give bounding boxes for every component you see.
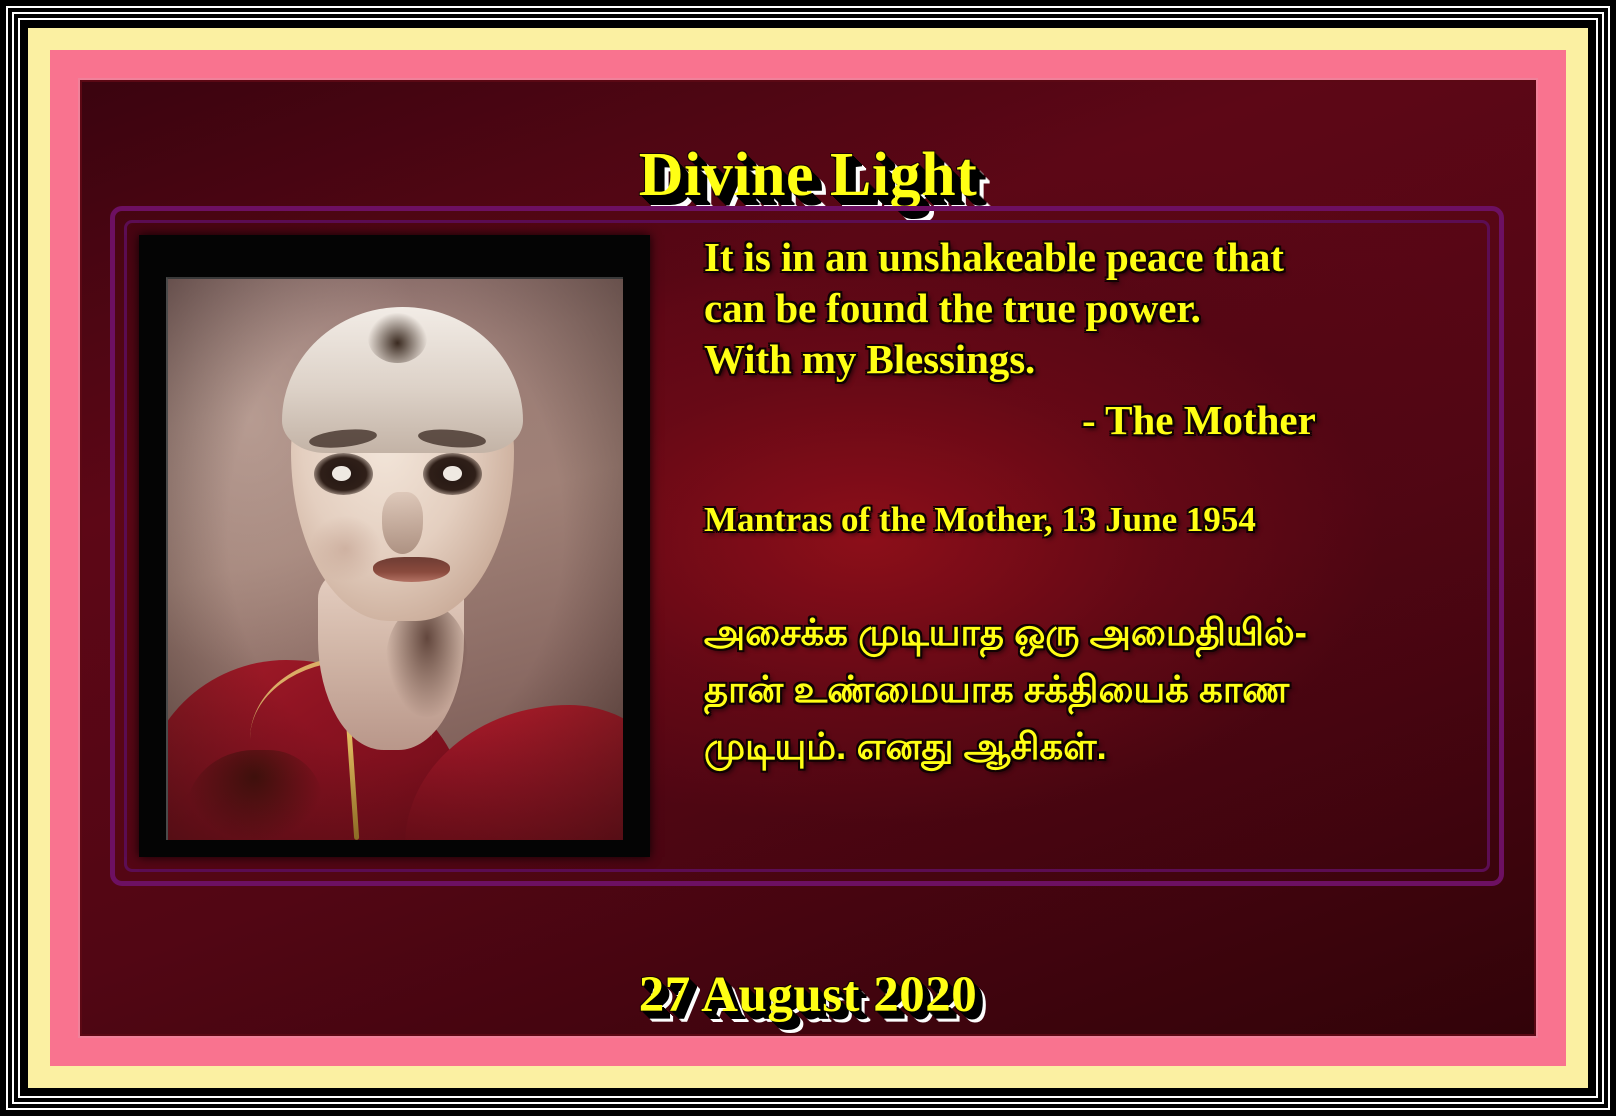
pinstripe-bottom-3: [18, 1096, 1598, 1098]
portrait-photo-frame: [139, 235, 650, 857]
poster-stage: Divine Light: [82, 82, 1534, 1034]
quote-line-3: With my Blessings.: [704, 334, 1494, 385]
pinstripe-top-2: [12, 12, 1604, 14]
divine-light-poster: Divine Light: [0, 0, 1616, 1116]
pinstripe-right-1: [1608, 6, 1610, 1110]
pinstripe-left-1: [6, 6, 8, 1110]
tamil-line-3: முடியும். எனது ஆசிகள்.: [704, 718, 1494, 775]
quote-line-1: It is in an unshakeable peace that: [704, 232, 1494, 283]
poster-date: 27 August 2020: [82, 966, 1534, 1024]
tamil-translation-block: அசைக்க முடியாத ஒரு அமைதியில்- தான் உண்மை…: [704, 604, 1494, 775]
quote-text-panel: It is in an unshakeable peace that can b…: [704, 232, 1494, 775]
pinstripe-bottom-1: [6, 1108, 1610, 1110]
tamil-line-2: தான் உண்மையாக சக்தியைக் காண: [704, 661, 1494, 718]
quote-source-citation: Mantras of the Mother, 13 June 1954: [704, 498, 1494, 542]
pinstripe-right-3: [1596, 18, 1598, 1098]
pinstripe-left-3: [18, 18, 20, 1098]
pinstripe-top-3: [18, 18, 1598, 20]
pinstripe-top-1: [6, 6, 1610, 8]
page-title: Divine Light: [82, 140, 1534, 211]
portrait-of-the-mother-image: [168, 279, 623, 840]
portrait-photo-mat: [166, 277, 623, 840]
pinstripe-bottom-2: [12, 1102, 1604, 1104]
quote-attribution: - The Mother: [704, 395, 1494, 446]
tamil-line-1: அசைக்க முடியாத ஒரு அமைதியில்-: [704, 604, 1494, 661]
pinstripe-left-2: [12, 12, 14, 1104]
pinstripe-right-2: [1602, 12, 1604, 1104]
portrait-vignette: [168, 279, 623, 840]
quote-line-2: can be found the true power.: [704, 283, 1494, 334]
